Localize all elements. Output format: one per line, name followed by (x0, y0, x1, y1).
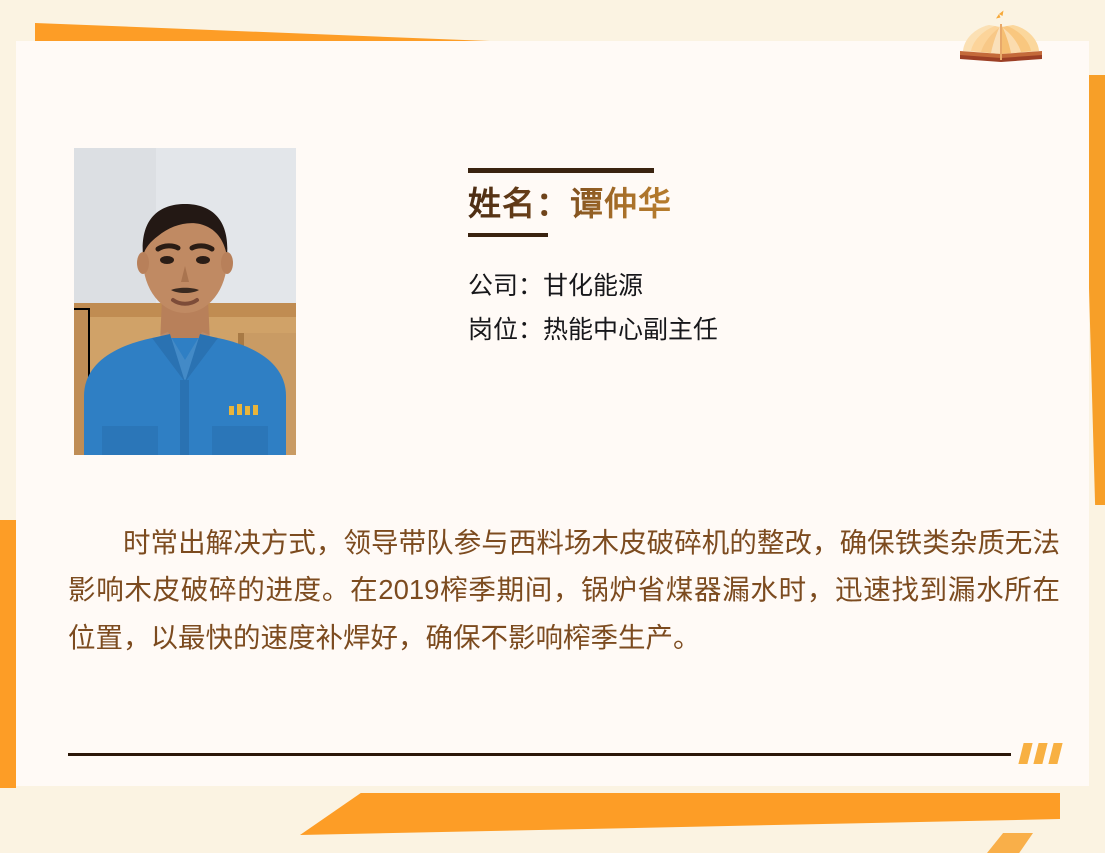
bottom-orange-wedge (300, 793, 1060, 835)
bottom-divider (68, 743, 1060, 766)
left-orange-bar (0, 520, 16, 788)
dash-mark (1033, 743, 1047, 764)
position-line: 岗位：热能中心副主任 (468, 308, 718, 352)
dash-mark (1048, 743, 1062, 764)
bottom-orange-accent (987, 833, 1033, 853)
name-rule-bottom (468, 233, 548, 237)
profile-row: 姓名：谭仲华 公司：甘化能源 岗位：热能中心副主任 (74, 148, 718, 455)
bird-icon (996, 11, 1004, 19)
divider-line (68, 753, 1011, 756)
divider-dashes (1015, 743, 1060, 764)
profile-card: 姓名：谭仲华 公司：甘化能源 岗位：热能中心副主任 时常出解决方式，领导带队参与… (16, 41, 1089, 786)
avatar (74, 148, 296, 455)
dash-mark (1018, 743, 1032, 764)
name-rule-top (468, 168, 654, 173)
page-title: 姓名：谭仲华 (468, 184, 718, 224)
open-book-icon (955, 7, 1047, 63)
company-line: 公司：甘化能源 (468, 264, 718, 308)
profile-info: 姓名：谭仲华 公司：甘化能源 岗位：热能中心副主任 (468, 148, 718, 352)
description-paragraph: 时常出解决方式，领导带队参与西料场木皮破碎机的整改，确保铁类杂质无法影响木皮破碎… (68, 519, 1060, 661)
